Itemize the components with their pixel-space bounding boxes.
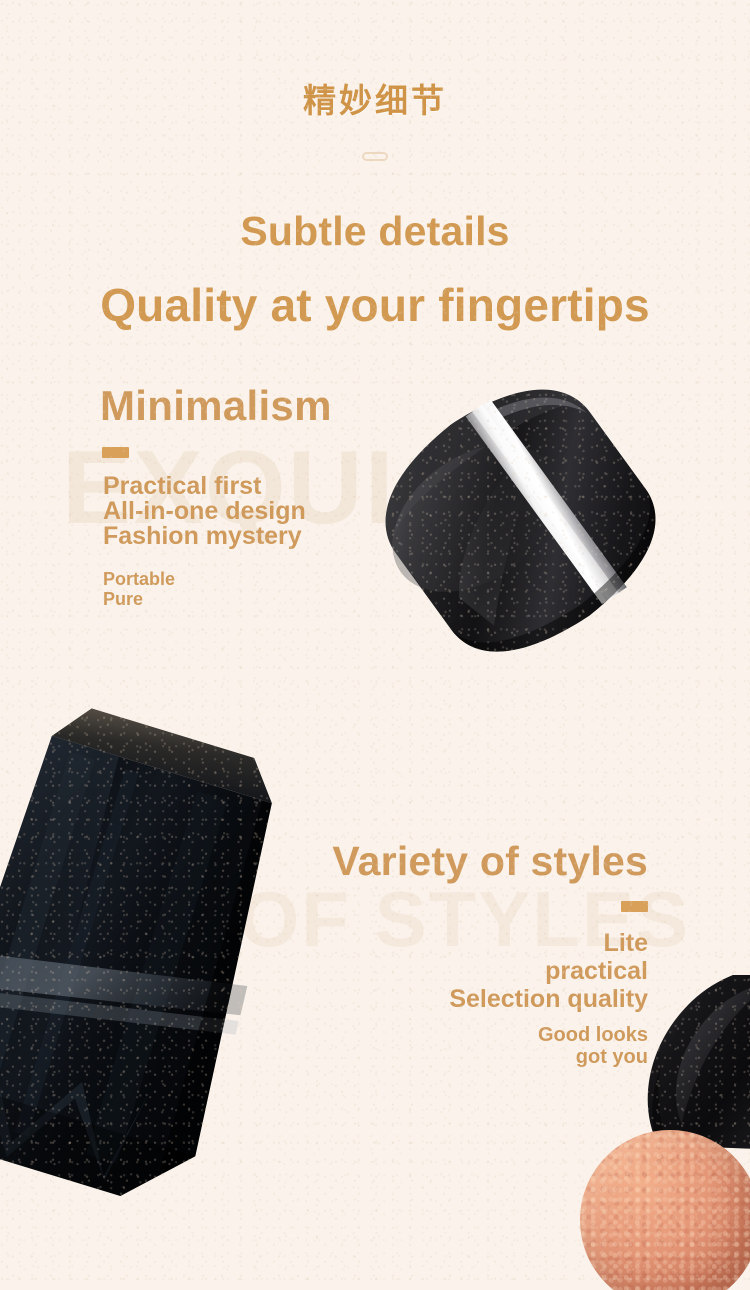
peach-sphere	[580, 1130, 750, 1290]
feature-list-minimalism: Practical first All-in-one design Fashio…	[103, 474, 306, 549]
section-heading-minimalism: Minimalism	[100, 382, 332, 430]
black-faceted-cylinder-case	[0, 700, 350, 1220]
headline-quality-fingertips: Quality at your fingertips	[0, 278, 750, 332]
product-detail-poster: EXQUI OF STYLES 精妙细节 Subtle details Qual…	[0, 0, 750, 1290]
subfeature-list-minimalism: Portable Pure	[103, 569, 175, 609]
feature-list-variety: Lite practical Selection quality	[449, 929, 648, 1013]
headline-subtle-details: Subtle details	[0, 208, 750, 255]
dash-accent-minimalism	[102, 447, 129, 458]
pill-divider-icon	[362, 152, 388, 161]
dash-accent-variety	[621, 901, 648, 912]
page-title-cn: 精妙细节	[0, 74, 750, 122]
black-glossy-barrel-lipstick	[318, 338, 748, 738]
subfeature-list-variety: Good looks got you	[538, 1024, 648, 1068]
section-heading-variety: Variety of styles	[332, 838, 648, 885]
